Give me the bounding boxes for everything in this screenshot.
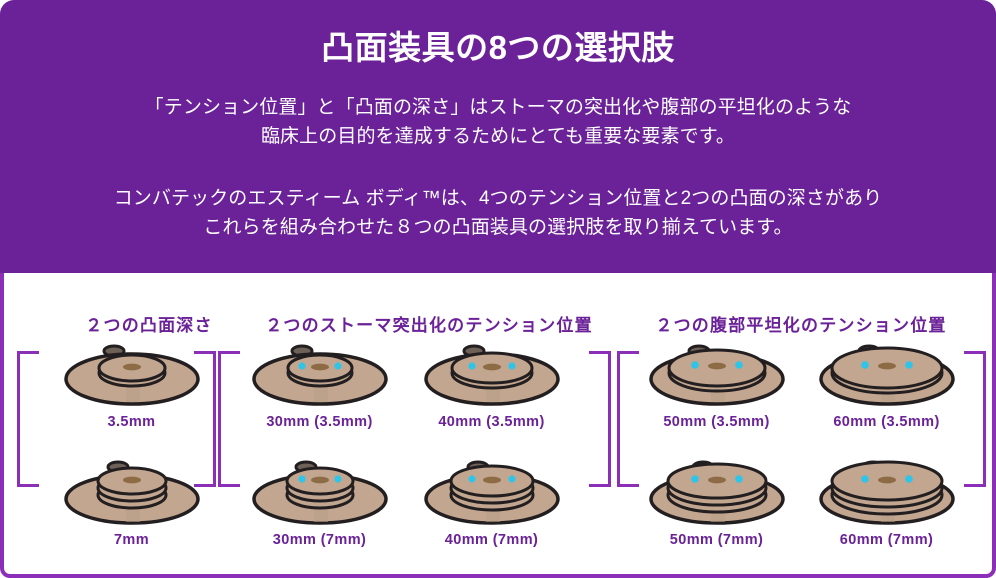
tension-dot-icon <box>334 362 341 369</box>
convex-device-icon <box>637 335 797 413</box>
convex-device-icon <box>52 453 212 531</box>
tension-dot-icon <box>508 362 515 369</box>
tension-dot-icon <box>334 475 341 482</box>
caption-stoma-protrusion-tension: ２つのストーマ突出化のテンション位置 <box>244 311 614 336</box>
device-abdominal-50mm-3-5mm: 50mm (3.5mm) <box>629 335 804 450</box>
device-row-7mm: 7mm 30mm (7mm) <box>4 453 996 568</box>
device-abdominal-60mm-7mm: 60mm (7mm) <box>799 453 974 568</box>
tension-dot-icon <box>735 475 743 483</box>
tension-dot-icon <box>298 475 305 482</box>
convex-device-icon <box>52 335 212 413</box>
header-banner: 凸面装具の8つの選択肢 「テンション位置」と「凸面の深さ」はストーマの突出化や腹… <box>0 0 996 273</box>
convex-device-icon <box>240 335 400 413</box>
tension-dot-icon <box>861 475 869 483</box>
device-label: 60mm (3.5mm) <box>799 414 974 430</box>
tension-dot-icon <box>508 475 515 482</box>
tension-dot-icon <box>905 361 913 369</box>
convex-device-icon <box>807 453 967 531</box>
tension-dot-icon <box>861 361 869 369</box>
tension-dot-icon <box>691 361 699 369</box>
tension-dot-icon <box>905 475 913 483</box>
header-paragraph-1-line-2: 臨床上の目的を達成するためにとても重要な要素です。 <box>261 126 735 147</box>
device-label: 50mm (7mm) <box>629 532 804 548</box>
convex-device-icon <box>412 453 572 531</box>
header-paragraph-2-line-2: これらを組み合わせた８つの凸面装具の選択肢を取り揃えています。 <box>203 217 792 238</box>
caption-convex-depth: ２つの凸面深さ <box>34 311 264 336</box>
tension-dot-icon <box>468 362 475 369</box>
device-abdominal-50mm-7mm: 50mm (7mm) <box>629 453 804 568</box>
device-row-3-5mm: 3.5mm 30mm (3.5mm) <box>4 335 996 450</box>
device-label: 40mm (3.5mm) <box>404 414 579 430</box>
tension-dot-icon <box>298 362 305 369</box>
tension-dot-icon <box>735 361 743 369</box>
device-stoma-30mm-7mm: 30mm (7mm) <box>232 453 407 568</box>
page-title: 凸面装具の8つの選択肢 <box>30 27 966 68</box>
header-paragraph-2: コンバテックのエスティーム ボディ™は、4つのテンション位置と2つの凸面の深さが… <box>30 185 966 243</box>
device-label: 30mm (7mm) <box>232 532 407 548</box>
convex-device-icon <box>807 335 967 413</box>
convex-options-infographic: 凸面装具の8つの選択肢 「テンション位置」と「凸面の深さ」はストーマの突出化や腹… <box>0 0 996 578</box>
convex-device-icon <box>412 335 572 413</box>
options-panel: ２つの凸面深さ ２つのストーマ突出化のテンション位置 ２つの腹部平坦化のテンショ… <box>0 273 996 578</box>
device-label: 40mm (7mm) <box>404 532 579 548</box>
device-label: 3.5mm <box>44 414 219 430</box>
device-label: 7mm <box>44 532 219 548</box>
group-captions: ２つの凸面深さ ２つのストーマ突出化のテンション位置 ２つの腹部平坦化のテンショ… <box>4 311 996 337</box>
device-depth-7mm: 7mm <box>44 453 219 568</box>
device-depth-3-5mm: 3.5mm <box>44 335 219 450</box>
device-label: 50mm (3.5mm) <box>629 414 804 430</box>
device-stoma-40mm-3-5mm: 40mm (3.5mm) <box>404 335 579 450</box>
tension-dot-icon <box>691 475 699 483</box>
device-label: 30mm (3.5mm) <box>232 414 407 430</box>
device-stoma-30mm-3-5mm: 30mm (3.5mm) <box>232 335 407 450</box>
convex-device-icon <box>240 453 400 531</box>
device-label: 60mm (7mm) <box>799 532 974 548</box>
header-paragraph-1: 「テンション位置」と「凸面の深さ」はストーマの突出化や腹部の平坦化のような 臨床… <box>30 94 966 152</box>
caption-abdominal-flattening-tension: ２つの腹部平坦化のテンション位置 <box>616 311 986 336</box>
device-abdominal-60mm-3-5mm: 60mm (3.5mm) <box>799 335 974 450</box>
tension-dot-icon <box>468 475 475 482</box>
header-paragraph-1-line-1: 「テンション位置」と「凸面の深さ」はストーマの突出化や腹部の平坦化のような <box>145 97 852 118</box>
header-paragraph-2-line-1: コンバテックのエスティーム ボディ™は、4つのテンション位置と2つの凸面の深さが… <box>114 188 883 209</box>
convex-device-icon <box>637 453 797 531</box>
device-stoma-40mm-7mm: 40mm (7mm) <box>404 453 579 568</box>
